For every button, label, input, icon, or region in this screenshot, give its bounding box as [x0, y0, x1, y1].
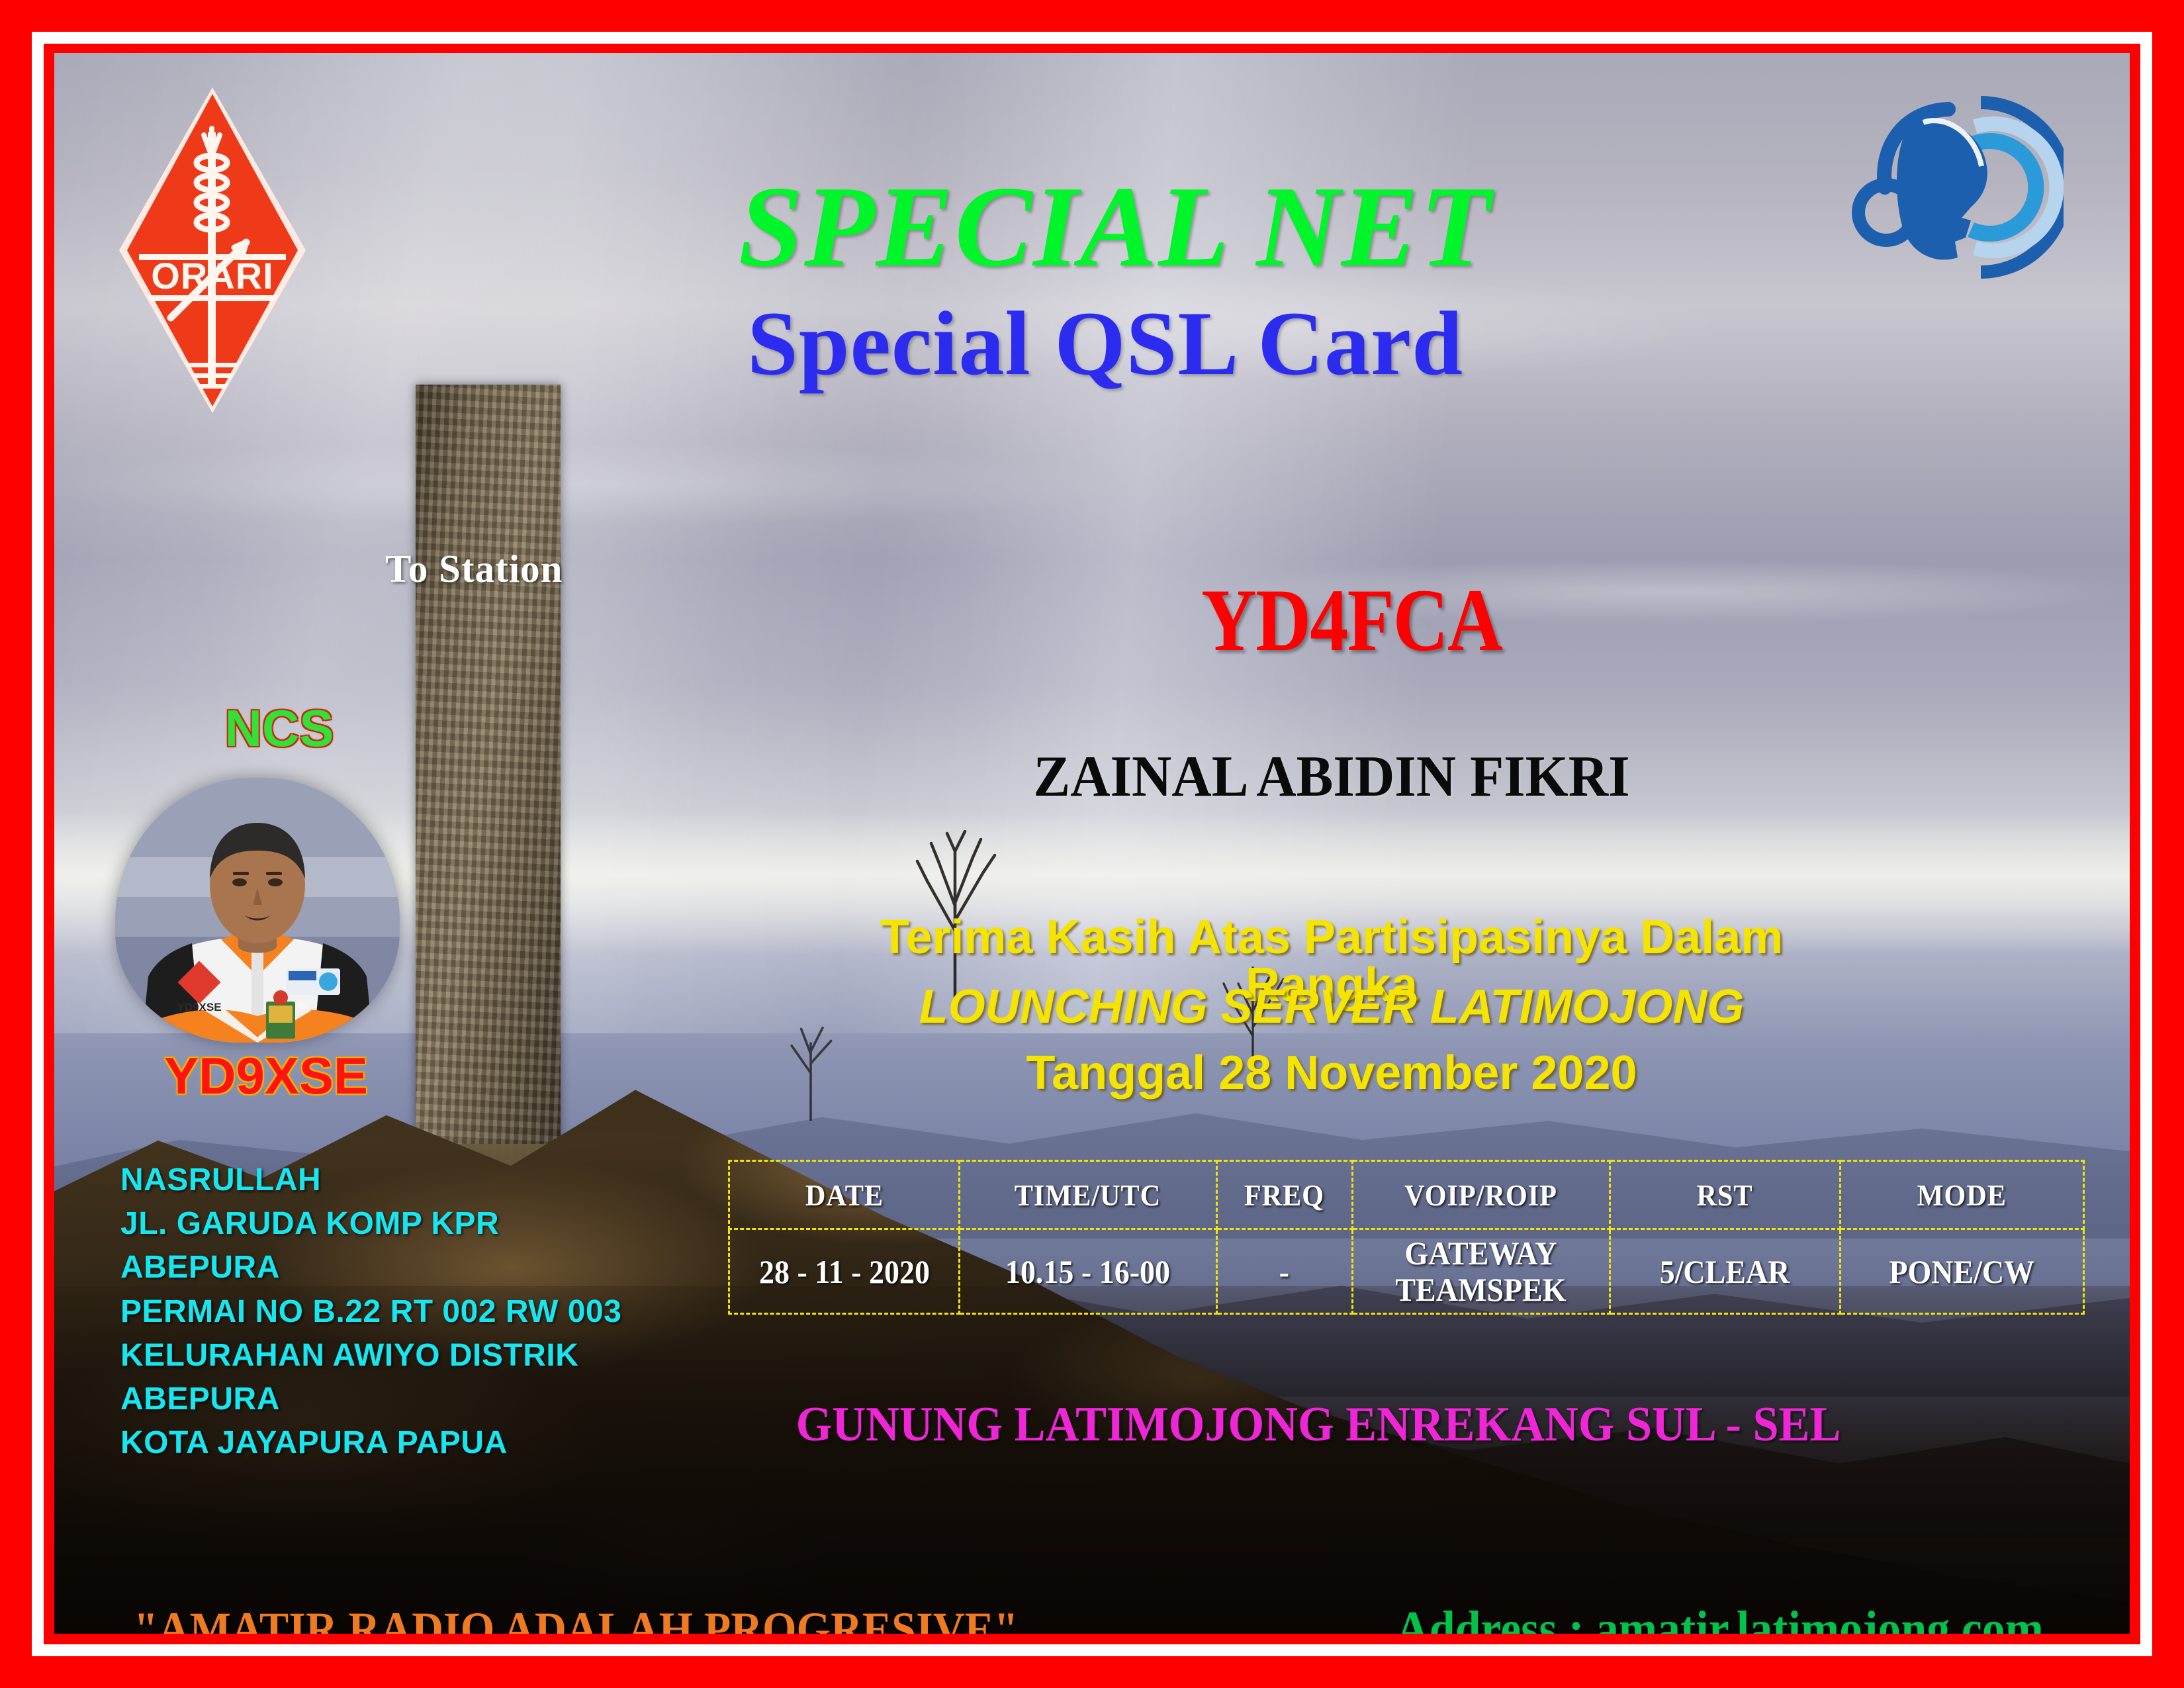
table-row: 28 - 11 - 2020 10.15 - 16-00 - GATEWAY T…	[729, 1229, 2084, 1314]
address-line: NASRULLAH	[120, 1158, 621, 1202]
ncs-shirt-callsign: YD9XSE	[177, 1001, 221, 1013]
cell-date: 28 - 11 - 2020	[738, 1229, 950, 1314]
footer-website: Address : amatir.latimojong.com	[1396, 1601, 2044, 1634]
event-title: LOUNCHING SERVER LATIMOJONG	[796, 983, 1868, 1031]
address-line: ABEPURA	[120, 1246, 621, 1289]
page-subtitle: Special QSL Card	[54, 298, 2130, 389]
station-callsign: YD4FCA	[925, 576, 1778, 665]
address-line: JL. GARUDA KOMP KPR	[120, 1202, 621, 1246]
ncs-operator-photo: YD9XSE	[115, 778, 400, 1043]
column-header-time: TIME/UTC	[970, 1161, 1206, 1229]
address-line: PERMAI NO B.22 RT 002 RW 003	[120, 1290, 621, 1334]
event-date: Tanggal 28 November 2020	[796, 1049, 1868, 1097]
cell-voip-roip-line1: GATEWAY	[1363, 1235, 1598, 1272]
address-line: ABEPURA	[120, 1378, 621, 1421]
column-header-voip-roip: VOIP/ROIP	[1363, 1161, 1600, 1229]
to-station-label: To Station	[385, 546, 563, 592]
ncs-callsign: YD9XSE	[127, 1046, 405, 1106]
column-header-mode: MODE	[1850, 1161, 2074, 1229]
cell-rst: 5/CLEAR	[1619, 1229, 1831, 1314]
address-line: KOTA JAYAPURA PAPUA	[120, 1421, 621, 1465]
cell-voip-roip-line2: TEAMSPEK	[1363, 1272, 1598, 1308]
column-header-freq: FREQ	[1222, 1161, 1347, 1229]
card-background-photo: ORARI	[54, 53, 2130, 1634]
qso-log-table: DATE TIME/UTC FREQ VOIP/ROIP RST MODE 28…	[728, 1160, 2085, 1315]
footer-slogan: "AMATIR RADIO ADALAH PROGRESIVE"	[134, 1602, 1019, 1634]
location-line: GUNUNG LATIMOJONG ENREKANG SUL - SEL	[721, 1397, 1916, 1453]
page-title: SPECIAL NET	[54, 169, 2130, 285]
cell-time: 10.15 - 16-00	[970, 1229, 1206, 1314]
column-header-date: DATE	[738, 1161, 950, 1229]
qsl-card: ORARI	[0, 0, 2184, 1688]
cell-freq: -	[1222, 1229, 1347, 1314]
address-line: KELURAHAN AWIYO DISTRIK	[120, 1334, 621, 1378]
address-block: NASRULLAH JL. GARUDA KOMP KPR ABEPURA PE…	[120, 1158, 621, 1466]
column-header-rst: RST	[1619, 1161, 1831, 1229]
ncs-label: NCS	[187, 698, 372, 759]
operator-name: ZAINAL ABIDIN FIKRI	[841, 748, 1822, 806]
table-header-row: DATE TIME/UTC FREQ VOIP/ROIP RST MODE	[729, 1161, 2084, 1229]
cell-mode: PONE/CW	[1850, 1229, 2074, 1314]
cell-voip-roip: GATEWAY TEAMSPEK	[1363, 1229, 1600, 1314]
